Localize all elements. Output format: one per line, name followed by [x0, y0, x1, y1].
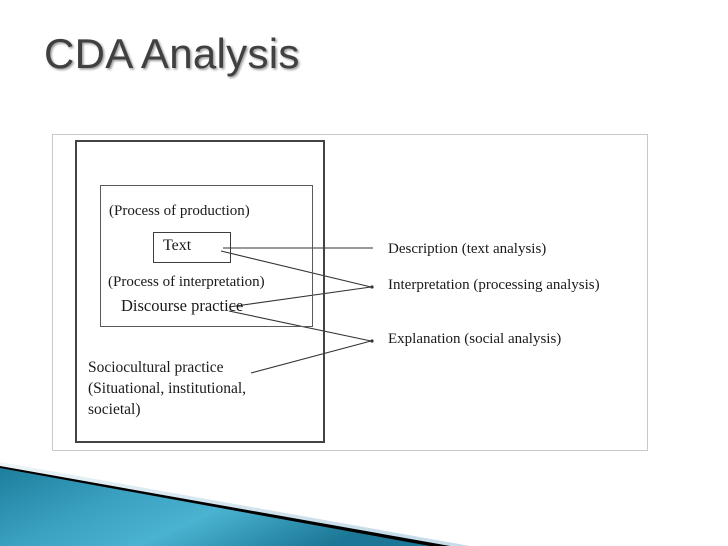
label-interpretation: Interpretation (processing analysis) — [388, 277, 600, 294]
slide-canvas: CDA Analysis — [0, 0, 728, 546]
teal-triangle — [0, 468, 430, 546]
corner-wedge-decoration — [0, 446, 470, 546]
label-explanation: Explanation (social analysis) — [388, 331, 561, 348]
pale-blue-wedge — [0, 462, 470, 546]
label-text: Text — [163, 238, 191, 254]
label-sociocultural-practice: Sociocultural practice (Situational, ins… — [88, 357, 298, 420]
page-title: CDA Analysis — [44, 30, 300, 78]
label-process-of-production: (Process of production) — [109, 204, 250, 219]
label-discourse-practice: Discourse practice — [121, 298, 243, 315]
sociocultural-line-3: societal) — [88, 401, 141, 418]
black-stripe — [0, 466, 450, 546]
diagram-picture-frame: (Process of production) Text (Process of… — [52, 134, 648, 451]
sociocultural-line-1: Sociocultural practice — [88, 359, 224, 376]
sociocultural-line-2: (Situational, institutional, — [88, 380, 246, 397]
label-process-of-interpretation: (Process of interpretation) — [108, 275, 265, 290]
label-description: Description (text analysis) — [388, 241, 546, 258]
connector-apex-markers — [370, 285, 373, 342]
